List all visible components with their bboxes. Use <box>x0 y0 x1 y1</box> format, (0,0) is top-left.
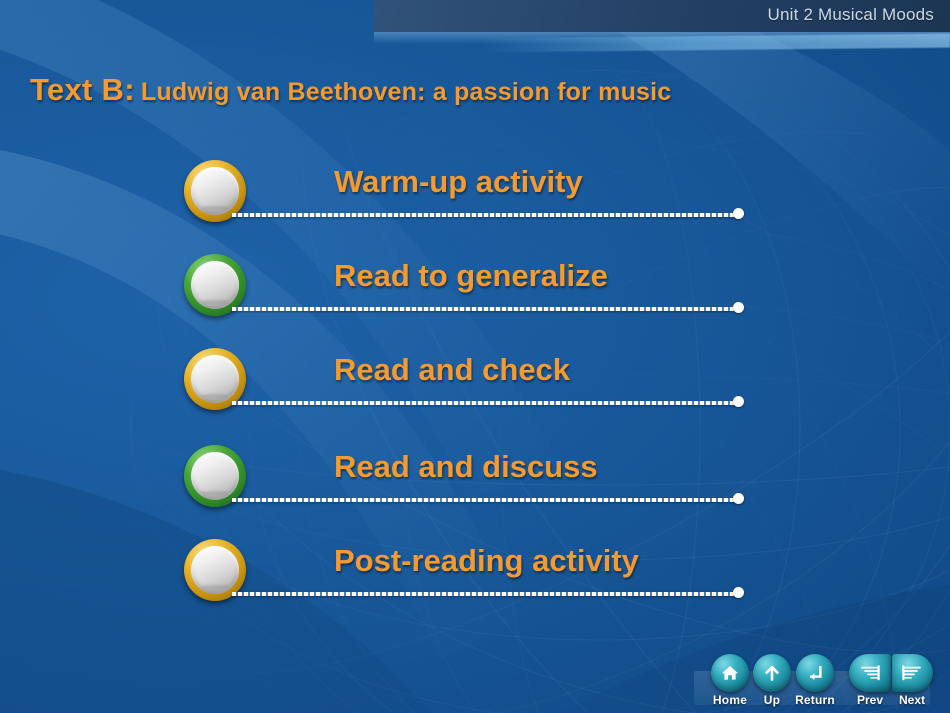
home-icon <box>711 654 749 692</box>
menu-item-end-dot <box>733 493 744 504</box>
nav-button-next[interactable] <box>892 654 934 692</box>
nav-button-up[interactable]: Up <box>751 654 793 707</box>
bullet-core <box>191 261 239 309</box>
bullet-core <box>191 355 239 403</box>
nav-label-prev: Prev <box>849 693 891 707</box>
nav-button-prev[interactable] <box>849 654 891 692</box>
arrow-up-icon <box>753 654 791 692</box>
menu-item-label: Read and discuss <box>334 449 598 485</box>
menu-item-label: Post-reading activity <box>334 543 639 579</box>
nav-label-up: Up <box>751 693 793 707</box>
nav-prev-next-group: Prev Next <box>849 654 933 707</box>
page-title: Text B:Ludwig van Beethoven: a passion f… <box>30 72 671 108</box>
nav-label-home: Home <box>709 693 751 707</box>
menu-item-label: Read to generalize <box>334 258 608 294</box>
title-lead: Text B: <box>30 72 135 107</box>
unit-title: Unit 2 Musical Moods <box>767 5 934 25</box>
menu-item-end-dot <box>733 208 744 219</box>
nav-button-home[interactable]: Home <box>709 654 751 707</box>
slide-root: Unit 2 Musical Moods Text B:Ludwig van B… <box>0 0 950 713</box>
menu-item-end-dot <box>733 396 744 407</box>
nav-label-next: Next <box>891 693 933 707</box>
menu-item-label: Read and check <box>334 352 570 388</box>
menu-item-rule <box>232 213 740 217</box>
bullet-core <box>191 452 239 500</box>
menu-item-rule <box>232 307 740 311</box>
nav-button-return[interactable]: Return <box>794 654 836 707</box>
menu-item-rule <box>232 401 740 405</box>
bottom-navigation-bar: Home Up Return <box>0 651 950 713</box>
nav-label-return: Return <box>794 693 836 707</box>
menu-item-end-dot <box>733 302 744 313</box>
title-subtitle: Ludwig van Beethoven: a passion for musi… <box>141 78 672 106</box>
menu-item-rule <box>232 592 740 596</box>
bullet-core <box>191 167 239 215</box>
menu-item-rule <box>232 498 740 502</box>
bullet-core <box>191 546 239 594</box>
return-arrow-icon <box>796 654 834 692</box>
menu-item-label: Warm-up activity <box>334 164 583 200</box>
menu-item-end-dot <box>733 587 744 598</box>
